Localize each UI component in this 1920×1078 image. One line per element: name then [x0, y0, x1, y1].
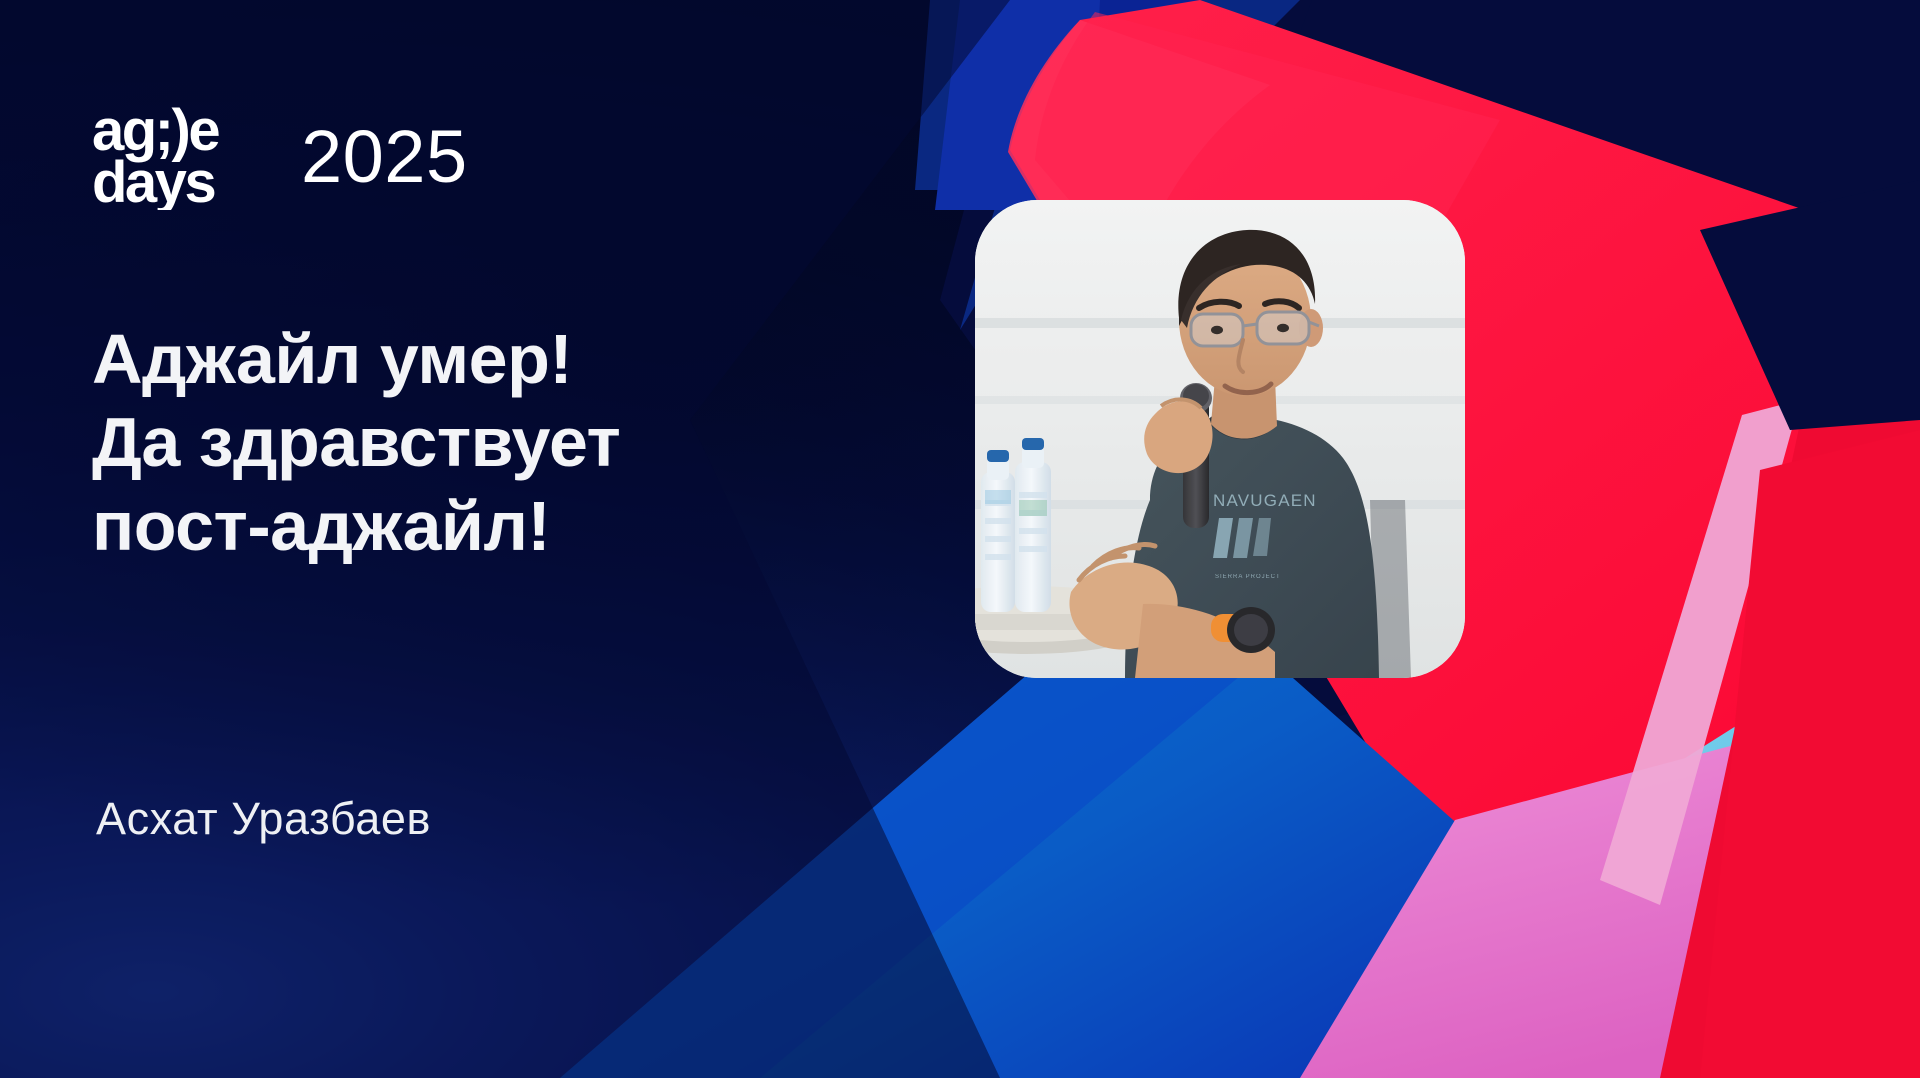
agiledays-wordmark-icon: ag;)e days: [92, 98, 267, 210]
speaker-name: Асхат Уразбаев: [96, 793, 431, 845]
speaker-photo: NAVUGAEN SIERRA PROJECT: [975, 200, 1465, 678]
talk-title: Аджайл умер! Да здравствует пост-аджайл!: [92, 318, 952, 568]
speaker-photo-illustration: NAVUGAEN SIERRA PROJECT: [975, 200, 1465, 678]
agiledays-wordmark-svg: ag;)e days: [92, 98, 267, 210]
logo-year: 2025: [301, 120, 468, 194]
slide-root: NAVUGAEN SIERRA PROJECT: [0, 0, 1920, 1078]
brand-logo[interactable]: ag;)e days 2025: [92, 98, 468, 210]
wordmark-line2: days: [92, 150, 214, 210]
speaker-photo-card: NAVUGAEN SIERRA PROJECT: [975, 200, 1465, 678]
